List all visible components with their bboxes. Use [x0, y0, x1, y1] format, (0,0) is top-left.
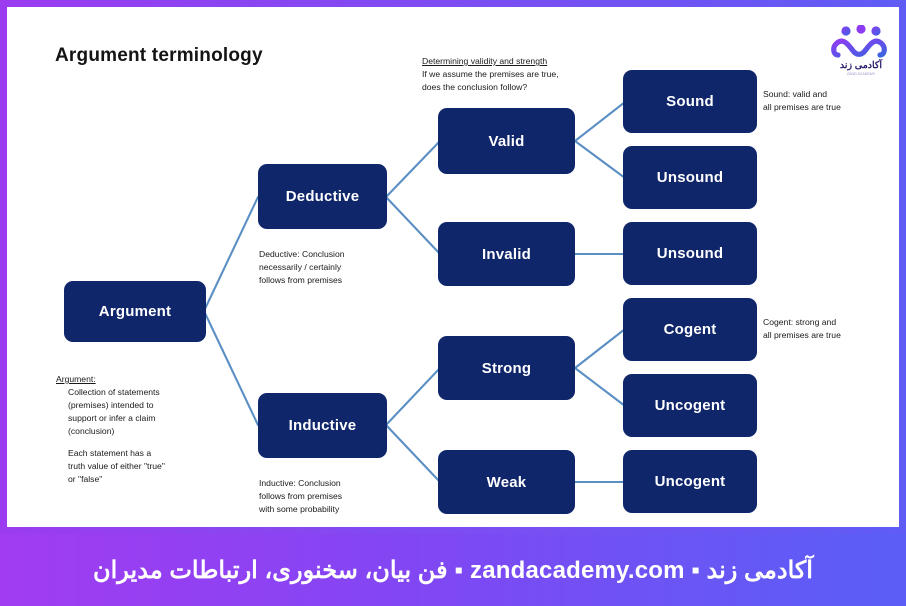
- node-deductive[interactable]: Deductive: [258, 164, 387, 229]
- link-inductive-strong: [386, 368, 440, 425]
- link-deductive-valid: [386, 141, 440, 197]
- note-cogent-line1: Cogent: strong and: [763, 317, 836, 327]
- note-deductive-line1: Deductive: Conclusion: [259, 249, 345, 259]
- link-deductive-invalid: [386, 197, 440, 254]
- link-valid-unsound: [575, 141, 625, 178]
- note-inductive: Inductive: Conclusion follows from premi…: [259, 477, 409, 516]
- node-inductive[interactable]: Inductive: [258, 393, 387, 458]
- node-uncogent-strong[interactable]: Uncogent: [623, 374, 757, 437]
- note-sound-line1: Sound: valid and: [763, 89, 827, 99]
- note-deductive: Deductive: Conclusion necessarily / cert…: [259, 248, 409, 287]
- footer-text: آکادمی زند ▪ zandacademy.com ▪ فن بیان، …: [93, 556, 813, 585]
- link-strong-cogent: [575, 329, 625, 368]
- link-valid-sound: [575, 102, 625, 141]
- note-sound-line2: all premises are true: [763, 102, 841, 112]
- node-valid[interactable]: Valid: [438, 108, 575, 174]
- note-inductive-line1: Inductive: Conclusion: [259, 478, 341, 488]
- poster-frame: Argument terminology آکادمی زند ZAND ACA…: [0, 0, 906, 606]
- note-argument: Argument: Collection of statements (prem…: [56, 373, 236, 486]
- diagram-canvas: Argument terminology آکادمی زند ZAND ACA…: [7, 7, 899, 527]
- note-validity: Determining validity and strength If we …: [422, 55, 607, 94]
- note-deductive-line3: follows from premises: [259, 275, 342, 285]
- node-argument[interactable]: Argument: [64, 281, 206, 342]
- note-cogent-line2: all premises are true: [763, 330, 841, 340]
- node-invalid[interactable]: Invalid: [438, 222, 575, 286]
- note-argument-line3: support or infer a claim: [56, 412, 236, 425]
- note-argument-line2: (premises) intended to: [56, 399, 236, 412]
- node-unsound-valid[interactable]: Unsound: [623, 146, 757, 209]
- link-inductive-weak: [386, 425, 440, 482]
- note-argument-spacer: [56, 437, 236, 447]
- note-argument-line5: Each statement has a: [56, 447, 236, 460]
- note-argument-line6: truth value of either "true": [56, 460, 236, 473]
- note-inductive-line2: follows from premises: [259, 491, 342, 501]
- note-inductive-line3: with some probability: [259, 504, 339, 514]
- node-strong[interactable]: Strong: [438, 336, 575, 400]
- note-sound: Sound: valid and all premises are true: [763, 88, 899, 114]
- node-cogent[interactable]: Cogent: [623, 298, 757, 361]
- node-uncogent-weak[interactable]: Uncogent: [623, 450, 757, 513]
- note-validity-line2: does the conclusion follow?: [422, 82, 527, 92]
- note-validity-line1: If we assume the premises are true,: [422, 69, 559, 79]
- node-unsound-invalid[interactable]: Unsound: [623, 222, 757, 285]
- note-validity-heading: Determining validity and strength: [422, 55, 607, 68]
- link-argument-deductive: [204, 197, 258, 311]
- note-cogent: Cogent: strong and all premises are true: [763, 316, 899, 342]
- node-sound[interactable]: Sound: [623, 70, 757, 133]
- note-argument-line4: (conclusion): [56, 425, 236, 438]
- footer-banner: آکادمی زند ▪ zandacademy.com ▪ فن بیان، …: [0, 534, 906, 606]
- note-argument-heading: Argument:: [56, 373, 236, 386]
- link-strong-uncogent: [575, 368, 625, 406]
- note-argument-line7: or "false": [56, 473, 236, 486]
- node-weak[interactable]: Weak: [438, 450, 575, 514]
- note-argument-line1: Collection of statements: [56, 386, 236, 399]
- note-deductive-line2: necessarily / certainly: [259, 262, 341, 272]
